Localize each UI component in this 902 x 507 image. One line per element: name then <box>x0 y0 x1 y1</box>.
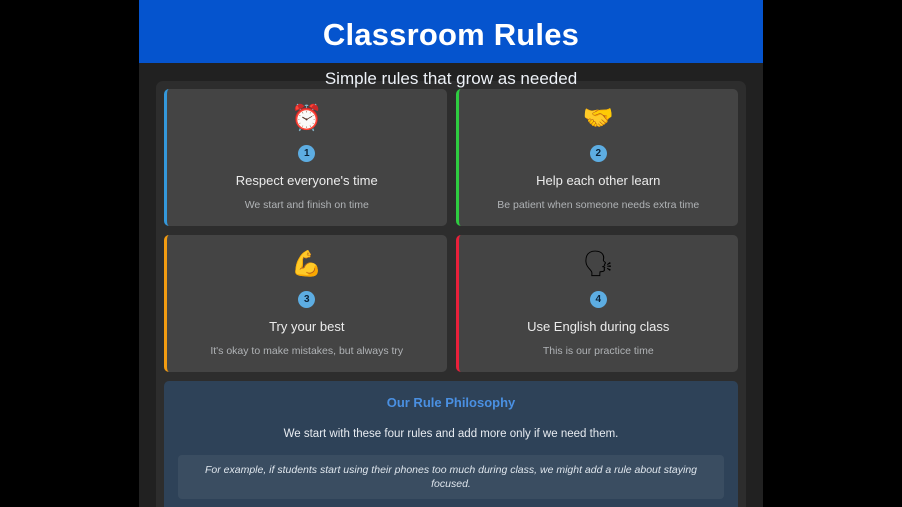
page-header: Classroom Rules Simple rules that grow a… <box>139 0 763 63</box>
rule-number-badge: 4 <box>590 291 607 308</box>
page-title: Classroom Rules <box>149 16 753 54</box>
rule-card[interactable]: 🗣 4 Use English during class This is our… <box>456 235 739 372</box>
rule-number-badge: 3 <box>298 291 315 308</box>
rule-description: This is our practice time <box>471 344 727 358</box>
rule-number-badge: 1 <box>298 145 315 162</box>
philosophy-text: We start with these four rules and add m… <box>178 427 724 442</box>
flexed-biceps-icon: 💪 <box>179 249 435 279</box>
rules-grid: ⏰ 1 Respect everyone's time We start and… <box>164 89 738 372</box>
page-container: Classroom Rules Simple rules that grow a… <box>139 0 763 507</box>
content-shell: ⏰ 1 Respect everyone's time We start and… <box>156 81 746 507</box>
rule-title: Try your best <box>179 318 435 335</box>
rule-title: Use English during class <box>471 318 727 335</box>
philosophy-example: For example, if students start using the… <box>178 455 724 499</box>
rule-description: We start and finish on time <box>179 198 435 212</box>
alarm-clock-icon: ⏰ <box>179 103 435 133</box>
handshake-icon: 🤝 <box>471 103 727 133</box>
philosophy-panel: Our Rule Philosophy We start with these … <box>164 381 738 507</box>
rule-card[interactable]: 🤝 2 Help each other learn Be patient whe… <box>456 89 739 226</box>
rule-title: Help each other learn <box>471 172 727 189</box>
rule-card[interactable]: ⏰ 1 Respect everyone's time We start and… <box>164 89 447 226</box>
rule-card[interactable]: 💪 3 Try your best It's okay to make mist… <box>164 235 447 372</box>
speaking-head-icon: 🗣 <box>471 249 727 279</box>
rule-title: Respect everyone's time <box>179 172 435 189</box>
rule-description: Be patient when someone needs extra time <box>471 198 727 212</box>
rule-number-badge: 2 <box>590 145 607 162</box>
rule-description: It's okay to make mistakes, but always t… <box>179 344 435 358</box>
philosophy-title: Our Rule Philosophy <box>178 395 724 411</box>
